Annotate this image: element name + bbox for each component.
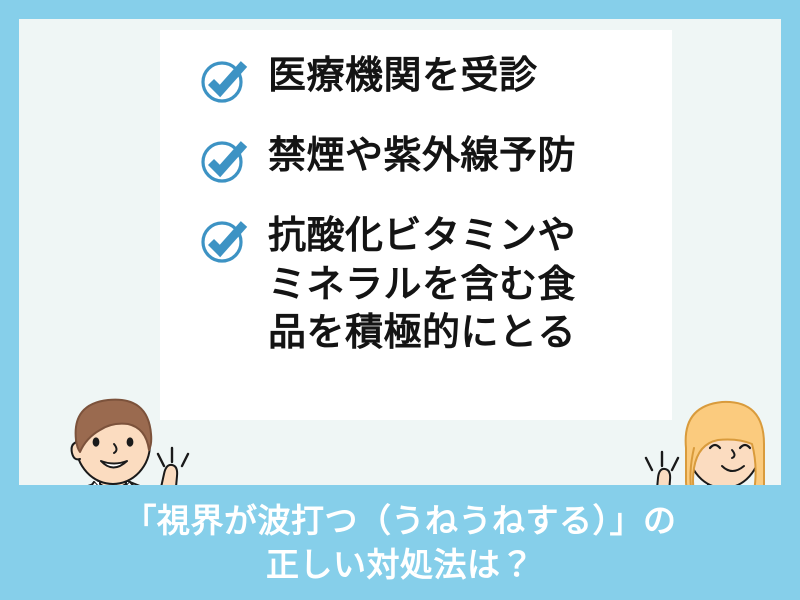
check-circle-icon (198, 134, 250, 186)
check-circle-icon (198, 54, 250, 106)
list-item-label: 禁煙や紫外線予防 (268, 132, 576, 181)
caption-banner: 「視界が波打つ（うねうねする）」の 正しい対処法は？ (0, 485, 800, 600)
infographic-slide: 医療機関を受診 禁煙や紫外線予防 (0, 0, 800, 600)
list-item-label: 医療機関を受診 (268, 52, 538, 101)
caption-title: 「視界が波打つ（うねうねする）」の 正しい対処法は？ (124, 499, 677, 586)
list-item: 抗酸化ビタミンや ミネラルを含む食 品を積極的にとる (198, 212, 658, 358)
list-item: 禁煙や紫外線予防 (198, 132, 658, 186)
list-item: 医療機関を受診 (198, 52, 658, 106)
list-item-label: 抗酸化ビタミンや ミネラルを含む食 品を積極的にとる (268, 212, 576, 358)
checklist: 医療機関を受診 禁煙や紫外線予防 (198, 52, 658, 358)
checklist-card: 医療機関を受診 禁煙や紫外線予防 (160, 30, 672, 420)
check-circle-icon (198, 214, 250, 266)
